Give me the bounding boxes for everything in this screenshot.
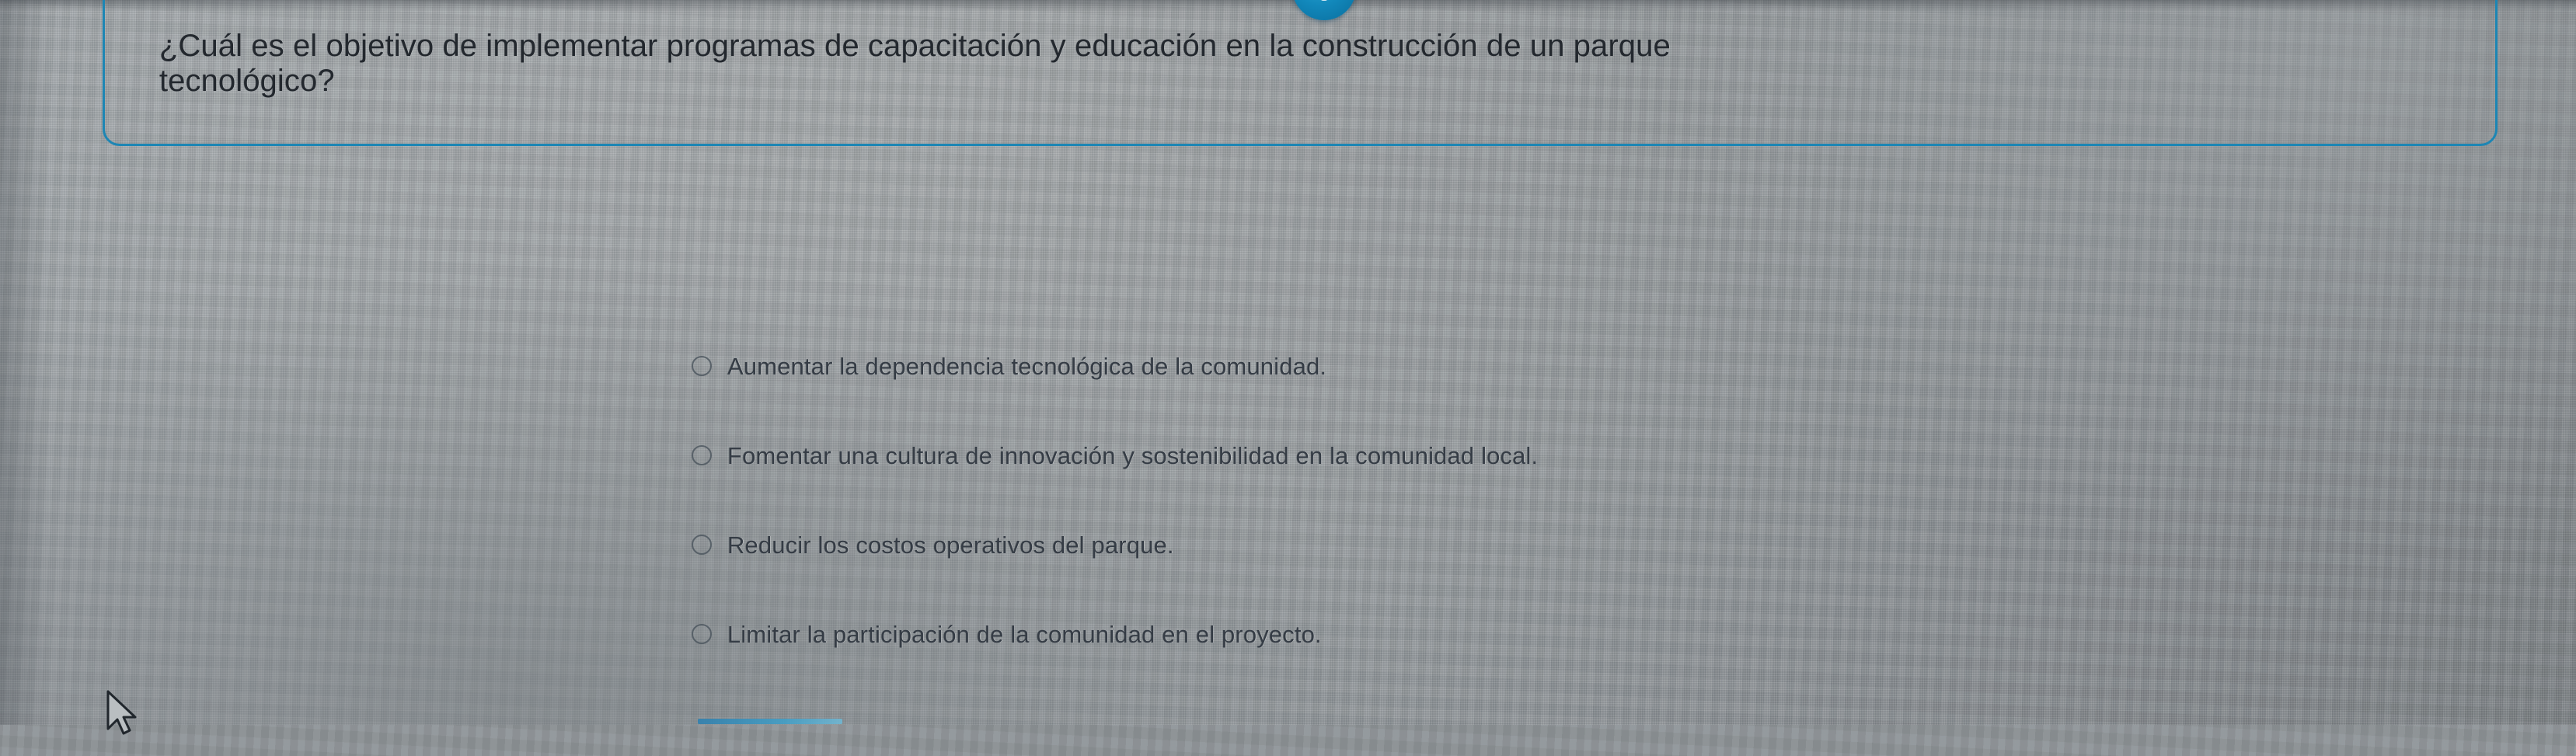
bottom-progress-bar (698, 719, 842, 724)
question-card: ¿Cuál es el objetivo de implementar prog… (103, 0, 2498, 146)
radio-button-icon[interactable] (692, 624, 712, 644)
mouse-pointer-icon (106, 690, 140, 735)
answer-option-label: Reducir los costos operativos del parque… (727, 533, 1174, 557)
answer-option-label: Fomentar una cultura de innovación y sos… (727, 444, 1538, 468)
answer-option-a[interactable]: Aumentar la dependencia tecnológica de l… (692, 343, 2401, 388)
answer-option-label: Limitar la participación de la comunidad… (727, 622, 1322, 646)
answer-option-label: Aumentar la dependencia tecnológica de l… (727, 354, 1326, 378)
left-edge-shadow (0, 0, 48, 725)
answer-option-d[interactable]: Limitar la participación de la comunidad… (692, 611, 2401, 657)
question-text: ¿Cuál es el objetivo de implementar prog… (159, 29, 2436, 99)
answer-options-list: Aumentar la dependencia tecnológica de l… (692, 343, 2401, 701)
photographed-screen-surface: ¿Cuál es el objetivo de implementar prog… (0, 0, 2576, 725)
radio-button-icon[interactable] (692, 356, 712, 376)
radio-button-icon[interactable] (692, 535, 712, 555)
answer-option-b[interactable]: Fomentar una cultura de innovación y sos… (692, 433, 2401, 478)
radio-button-icon[interactable] (692, 445, 712, 465)
answer-option-c[interactable]: Reducir los costos operativos del parque… (692, 522, 2401, 567)
